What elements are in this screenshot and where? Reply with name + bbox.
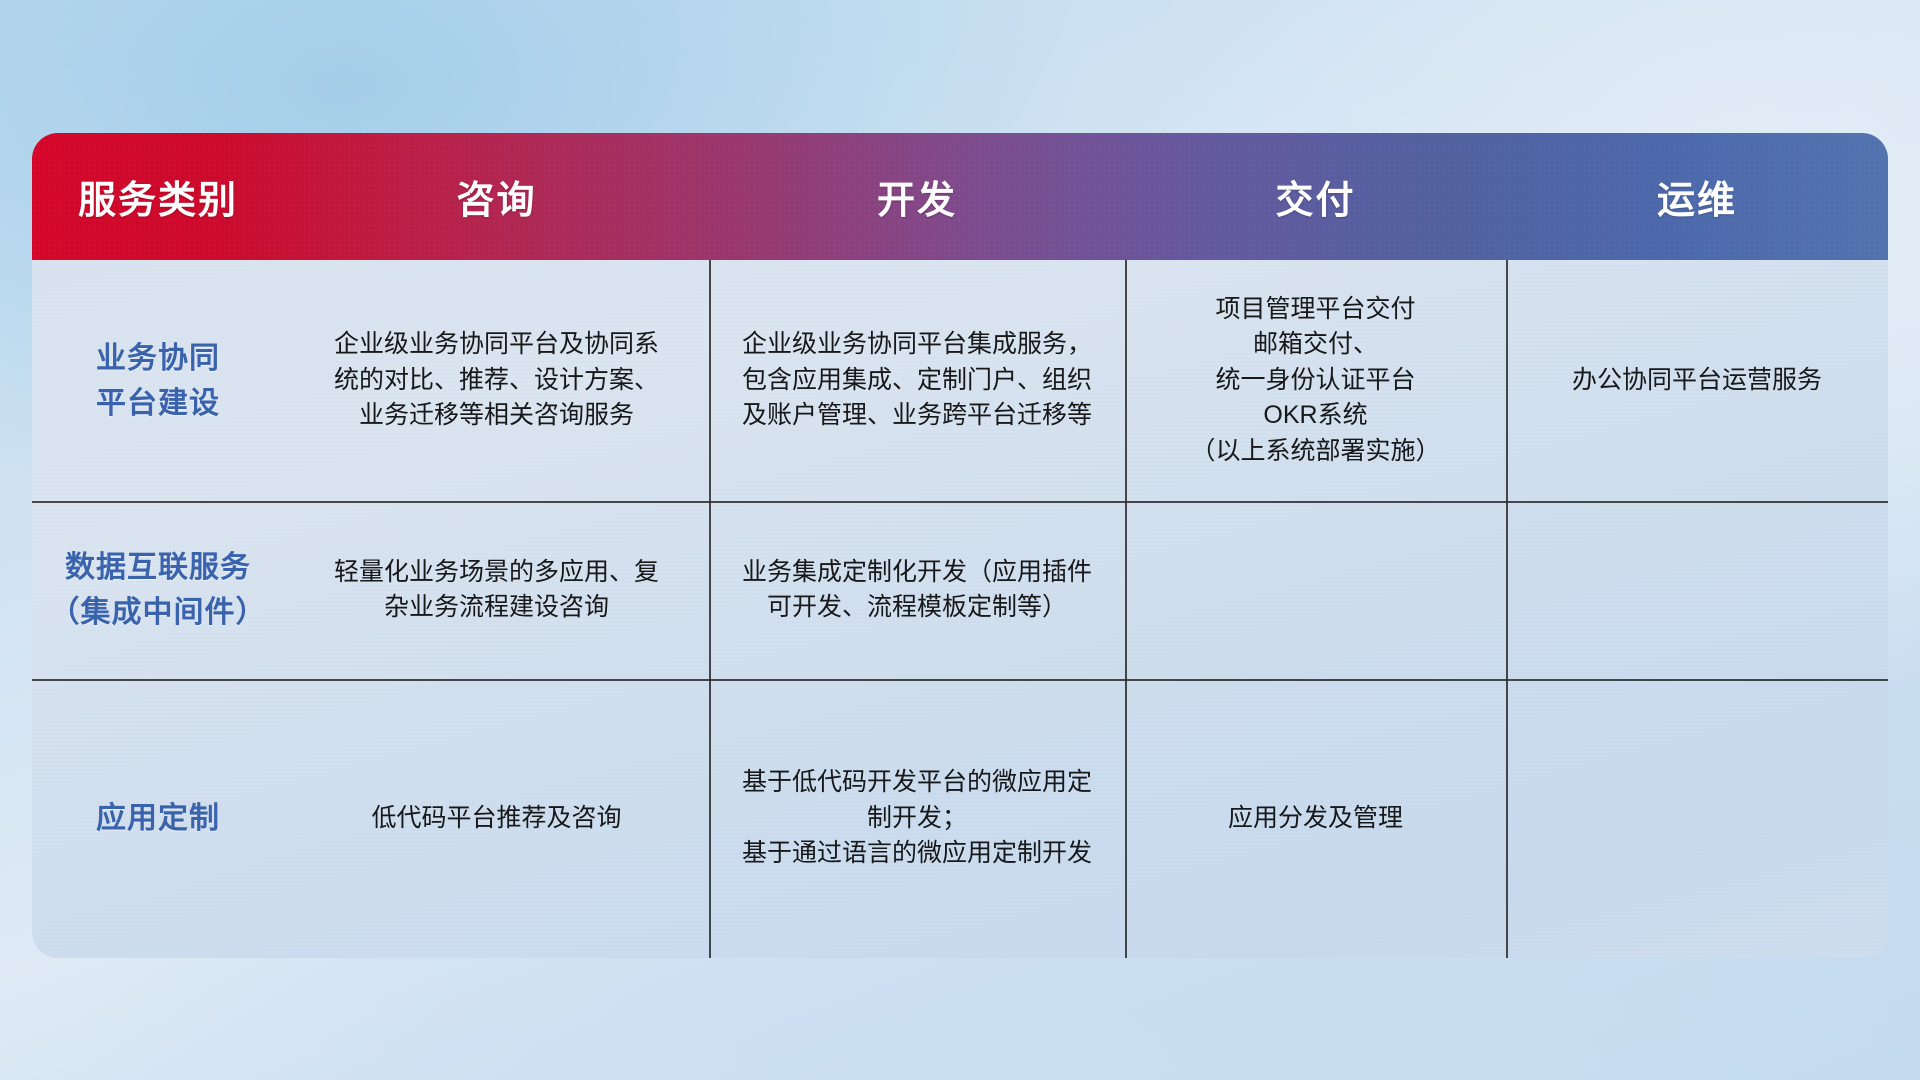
row-delivery-cell: 应用分发及管理 — [1125, 679, 1506, 958]
cell-text: 轻量化业务场景的多应用、复 杂业务流程建设咨询 — [334, 555, 659, 626]
service-matrix-table: 服务类别 咨询 开发 交付 运维 业务协同 平台建设 企业级业务协同平台及协同系… — [32, 133, 1888, 958]
slide-canvas: 服务类别 咨询 开发 交付 运维 业务协同 平台建设 企业级业务协同平台及协同系… — [0, 0, 1920, 1080]
table-header-row: 服务类别 咨询 开发 交付 运维 — [32, 133, 1888, 260]
table-row: 业务协同 平台建设 企业级业务协同平台及协同系 统的对比、推荐、设计方案、 业务… — [32, 260, 1888, 501]
column-header-operations: 运维 — [1506, 169, 1888, 224]
cell-text: 企业级业务协同平台集成服务， 包含应用集成、定制门户、组织 及账户管理、业务跨平… — [742, 327, 1092, 434]
row-category-label: 业务协同 平台建设 — [96, 336, 220, 426]
cell-text: 应用分发及管理 — [1228, 801, 1403, 837]
column-header-development: 开发 — [709, 169, 1125, 224]
row-consulting-cell: 轻量化业务场景的多应用、复 杂业务流程建设咨询 — [284, 501, 709, 679]
table-row: 数据互联服务 （集成中间件） 轻量化业务场景的多应用、复 杂业务流程建设咨询 业… — [32, 501, 1888, 679]
row-delivery-cell: 项目管理平台交付 邮箱交付、 统一身份认证平台 OKR系统 （以上系统部署实施） — [1125, 260, 1506, 501]
row-category-label: 应用定制 — [96, 796, 220, 841]
row-category-cell: 应用定制 — [32, 679, 284, 958]
cell-text: 办公协同平台运营服务 — [1572, 363, 1822, 399]
row-category-label: 数据互联服务 （集成中间件） — [50, 545, 267, 635]
row-category-cell: 数据互联服务 （集成中间件） — [32, 501, 284, 679]
cell-text: 项目管理平台交付 邮箱交付、 统一身份认证平台 OKR系统 （以上系统部署实施） — [1190, 292, 1440, 470]
column-header-delivery: 交付 — [1125, 169, 1506, 224]
row-category-cell: 业务协同 平台建设 — [32, 260, 284, 501]
row-operations-cell — [1506, 679, 1888, 958]
row-consulting-cell: 企业级业务协同平台及协同系 统的对比、推荐、设计方案、 业务迁移等相关咨询服务 — [284, 260, 709, 501]
row-delivery-cell — [1125, 501, 1506, 679]
column-header-consulting: 咨询 — [284, 169, 709, 224]
row-development-cell: 业务集成定制化开发（应用插件 可开发、流程模板定制等） — [709, 501, 1125, 679]
cell-text: 业务集成定制化开发（应用插件 可开发、流程模板定制等） — [742, 555, 1092, 626]
row-development-cell: 企业级业务协同平台集成服务， 包含应用集成、定制门户、组织 及账户管理、业务跨平… — [709, 260, 1125, 501]
table-row: 应用定制 低代码平台推荐及咨询 基于低代码开发平台的微应用定 制开发； 基于通过… — [32, 679, 1888, 958]
column-header-category: 服务类别 — [32, 169, 284, 224]
row-operations-cell: 办公协同平台运营服务 — [1506, 260, 1888, 501]
row-development-cell: 基于低代码开发平台的微应用定 制开发； 基于通过语言的微应用定制开发 — [709, 679, 1125, 958]
row-consulting-cell: 低代码平台推荐及咨询 — [284, 679, 709, 958]
row-operations-cell — [1506, 501, 1888, 679]
cell-text: 基于低代码开发平台的微应用定 制开发； 基于通过语言的微应用定制开发 — [742, 765, 1092, 872]
cell-text: 低代码平台推荐及咨询 — [371, 801, 621, 837]
table-body: 业务协同 平台建设 企业级业务协同平台及协同系 统的对比、推荐、设计方案、 业务… — [32, 260, 1888, 958]
cell-text: 企业级业务协同平台及协同系 统的对比、推荐、设计方案、 业务迁移等相关咨询服务 — [334, 327, 659, 434]
